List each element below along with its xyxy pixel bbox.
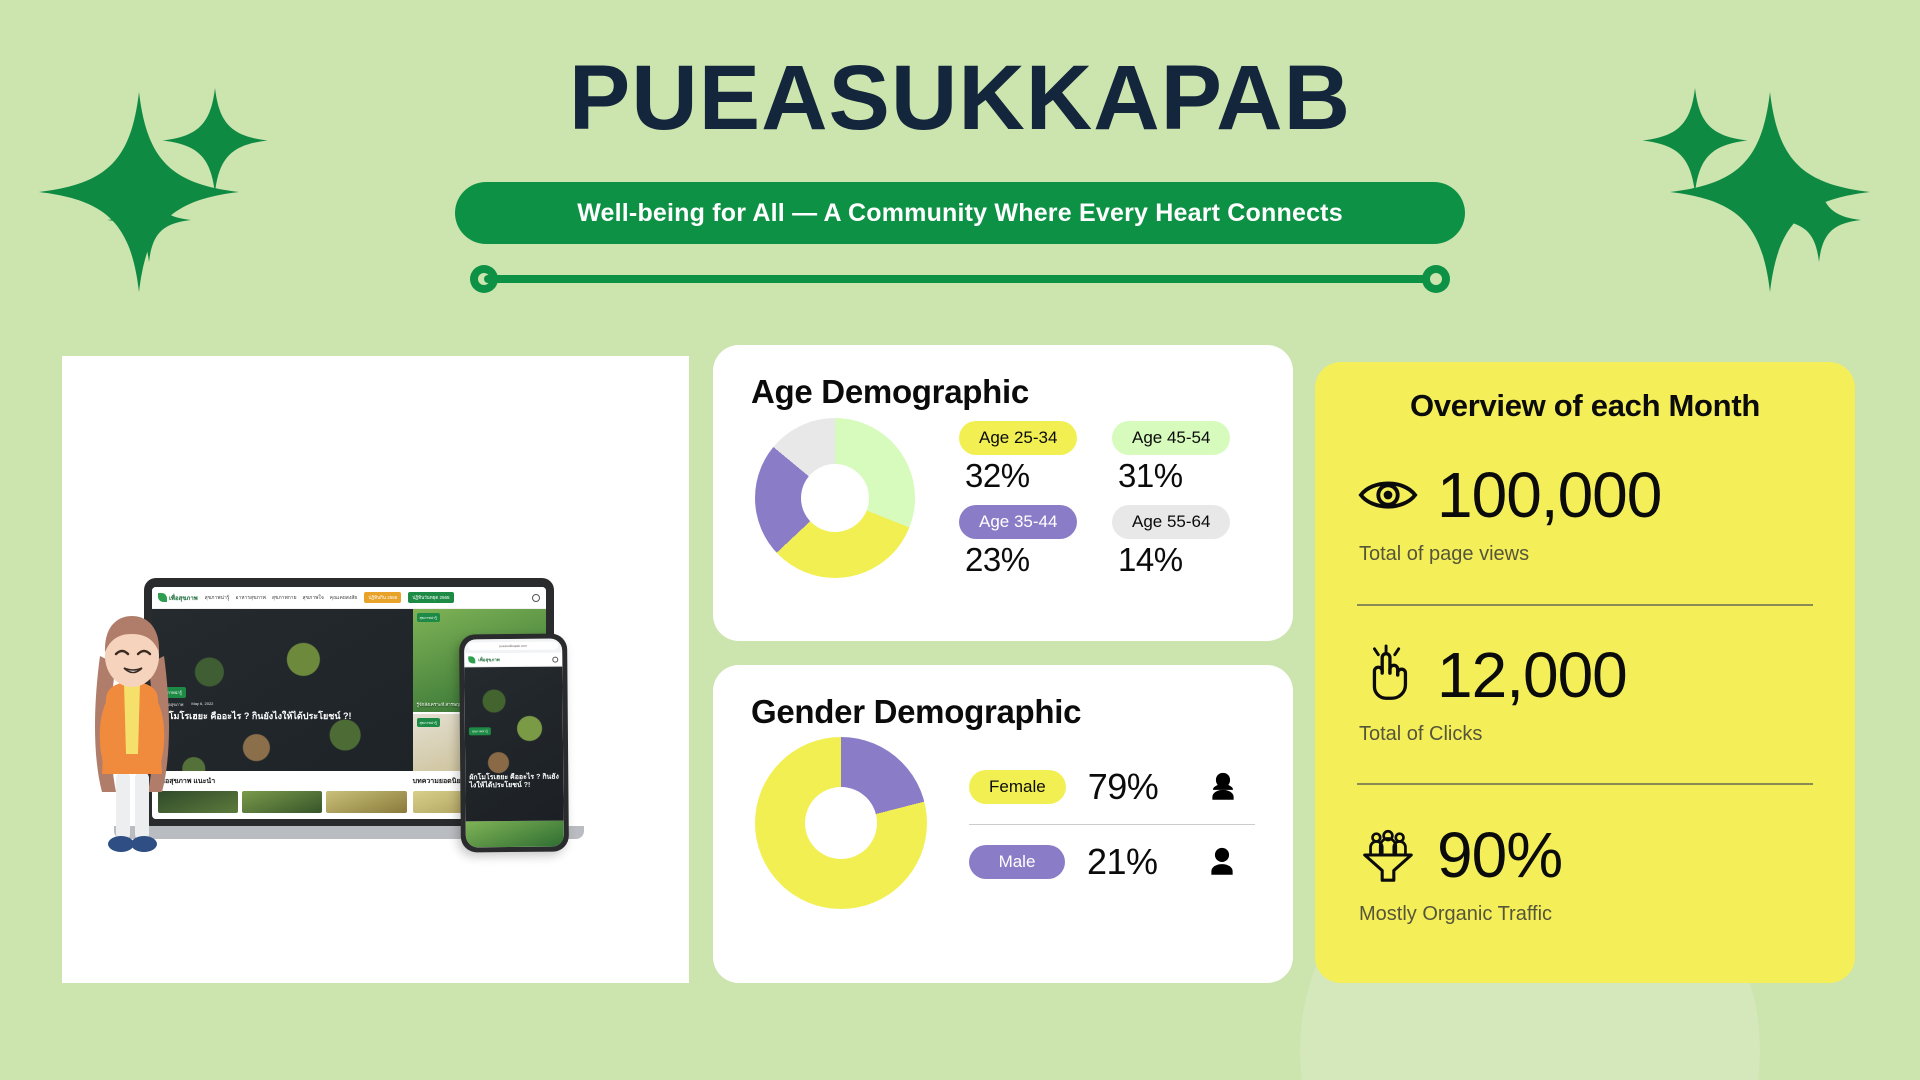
- leaf-icon: [158, 593, 167, 602]
- stat-page-views: 100,000 Total of page views: [1357, 426, 1813, 604]
- gender-donut-chart: [755, 737, 927, 909]
- stat-page-views-main: 100,000: [1357, 463, 1813, 527]
- gender-legend: Female 79% Male 21%: [969, 754, 1255, 895]
- age-value-25-34: 32%: [965, 457, 1030, 495]
- phone-leaf-icon: [468, 656, 475, 663]
- phone-screen: pueasukkapab.com เพื่อสุขภาพ สุขภาพน่ารู…: [464, 639, 564, 848]
- phone-hero-tag: สุขภาพน่ารู้: [469, 727, 491, 735]
- search-icon[interactable]: [532, 594, 540, 602]
- stat-page-views-label: Total of page views: [1359, 543, 1813, 566]
- age-demographic-card: Age Demographic Age 25-34 32% Age 45-54 …: [713, 345, 1293, 641]
- overview-card: Overview of each Month 100,000 Total of …: [1315, 362, 1855, 983]
- age-chip-35-44: Age 35-44: [959, 505, 1077, 539]
- gender-chip-female: Female: [969, 770, 1066, 804]
- thumb-2[interactable]: [242, 791, 322, 813]
- phone-navbar: เพื่อสุขภาพ: [464, 653, 562, 668]
- footer-recommended: เพื่อสุขภาพ แนะนำ: [158, 776, 407, 814]
- hero-headline: ผักโมโรเฮยะ คืออะไร ? กินยังไงให้ได้ประโ…: [158, 711, 403, 722]
- divider-bar: [484, 275, 1436, 283]
- phone-url-text[interactable]: pueasukkapab.com: [468, 642, 558, 651]
- nav-link-0[interactable]: สุขภาพน่ารู้: [205, 594, 230, 602]
- gender-divider: [969, 824, 1255, 825]
- phone-logo-text: เพื่อสุขภาพ: [478, 656, 500, 663]
- side-tag-a: สุขภาพน่ารู้: [417, 613, 440, 622]
- footer-thumbs-left: [158, 791, 407, 813]
- eye-icon: [1357, 464, 1419, 526]
- age-value-35-44: 23%: [965, 541, 1030, 579]
- nav-link-3[interactable]: สุขภาพใจ: [303, 594, 324, 602]
- age-legend-item-0: Age 25-34 32%: [959, 421, 1102, 495]
- stat-clicks-main: 12,000: [1357, 643, 1813, 707]
- age-legend-item-2: Age 35-44 23%: [959, 505, 1102, 579]
- stat-organic-traffic: 90% Mostly Organic Traffic: [1357, 785, 1813, 963]
- stat-clicks-label: Total of Clicks: [1359, 723, 1813, 746]
- stat-clicks-value: 12,000: [1437, 643, 1627, 707]
- phone-headline: ผักโมโรเฮยะ คืออะไร ? กินยังไงให้ได้ประโ…: [469, 773, 559, 791]
- nav-link-1[interactable]: อาหารสุขภาพ: [235, 594, 265, 602]
- overview-card-title: Overview of each Month: [1357, 388, 1813, 424]
- phone-search-icon[interactable]: [552, 656, 558, 662]
- mascot-character-illustration: [72, 604, 192, 862]
- gender-card-body: Female 79% Male 21%: [751, 737, 1255, 909]
- age-chip-45-54: Age 45-54: [1112, 421, 1230, 455]
- nav-link-2[interactable]: สุขภาพกาย: [272, 594, 297, 602]
- funnel-icon: [1357, 824, 1419, 886]
- divider-rule: [470, 265, 1450, 293]
- site-logo-text: เพื่อสุขภาพ: [169, 593, 198, 603]
- hero-date: May 6, 2022: [191, 701, 213, 708]
- nav-badge-calendar[interactable]: ปฏิทินกิน 2565: [364, 592, 401, 603]
- gender-demographic-card: Gender Demographic Female 79% Male 21%: [713, 665, 1293, 983]
- gender-value-male: 21%: [1087, 841, 1183, 883]
- gender-card-title: Gender Demographic: [751, 693, 1255, 731]
- header: PUEASUKKAPAB Well-being for All — A Comm…: [0, 0, 1920, 300]
- site-logo: เพื่อสุขภาพ: [158, 593, 198, 603]
- age-legend: Age 25-34 32% Age 45-54 31% Age 35-44 23…: [959, 421, 1255, 579]
- subtitle-pill: Well-being for All — A Community Where E…: [455, 182, 1465, 244]
- stat-clicks: 12,000 Total of Clicks: [1357, 606, 1813, 784]
- female-avatar-icon: [1206, 770, 1240, 804]
- demographics-column: Age Demographic Age 25-34 32% Age 45-54 …: [713, 345, 1293, 983]
- stat-organic-traffic-value: 90%: [1437, 823, 1562, 887]
- gender-legend-item-female: Female 79%: [969, 754, 1255, 820]
- site-nav-links: สุขภาพน่ารู้ อาหารสุขภาพ สุขภาพกาย สุขภา…: [205, 594, 358, 602]
- stat-organic-traffic-main: 90%: [1357, 823, 1813, 887]
- gender-chip-male: Male: [969, 845, 1065, 879]
- page-title: PUEASUKKAPAB: [0, 52, 1920, 144]
- infographic-canvas: PUEASUKKAPAB Well-being for All — A Comm…: [0, 0, 1920, 1080]
- age-card-body: Age 25-34 32% Age 45-54 31% Age 35-44 23…: [751, 417, 1255, 579]
- nav-link-4[interactable]: คุณเคยสงสัย: [330, 594, 357, 602]
- gender-legend-item-male: Male 21%: [969, 829, 1255, 895]
- site-navbar: เพื่อสุขภาพ สุขภาพน่ารู้ อาหารสุขภาพ สุข…: [152, 587, 546, 609]
- phone-next-article[interactable]: [466, 821, 564, 848]
- male-avatar-icon: [1205, 845, 1239, 879]
- age-chip-25-34: Age 25-34: [959, 421, 1077, 455]
- thumb-3[interactable]: [326, 791, 406, 813]
- phone-hero-article[interactable]: สุขภาพน่ารู้ ผักโมโรเฮยะ คืออะไร ? กินยั…: [464, 667, 563, 822]
- divider-knob-right: [1422, 265, 1450, 293]
- age-donut-chart: [755, 418, 915, 578]
- age-legend-item-1: Age 45-54 31%: [1112, 421, 1255, 495]
- stat-organic-traffic-label: Mostly Organic Traffic: [1359, 903, 1813, 926]
- subtitle-text: Well-being for All — A Community Where E…: [577, 199, 1343, 228]
- age-legend-item-3: Age 55-64 14%: [1112, 505, 1255, 579]
- phone-browser-bar: pueasukkapab.com: [464, 639, 562, 654]
- age-chip-55-64: Age 55-64: [1112, 505, 1230, 539]
- click-icon: [1357, 644, 1419, 706]
- device-mockup-panel: เพื่อสุขภาพ สุขภาพน่ารู้ อาหารสุขภาพ สุข…: [62, 356, 689, 983]
- age-value-55-64: 14%: [1118, 541, 1183, 579]
- footer-left-title: เพื่อสุขภาพ แนะนำ: [158, 776, 407, 787]
- nav-badge-holiday[interactable]: ปฏิทินวันหยุด 2565: [408, 592, 453, 603]
- gender-value-female: 79%: [1088, 766, 1184, 808]
- side-tag-b: สุขภาพน่ารู้: [417, 718, 440, 727]
- age-value-45-54: 31%: [1118, 457, 1183, 495]
- age-card-title: Age Demographic: [751, 373, 1255, 411]
- phone-mockup: pueasukkapab.com เพื่อสุขภาพ สุขภาพน่ารู…: [459, 634, 569, 853]
- stat-page-views-value: 100,000: [1437, 463, 1661, 527]
